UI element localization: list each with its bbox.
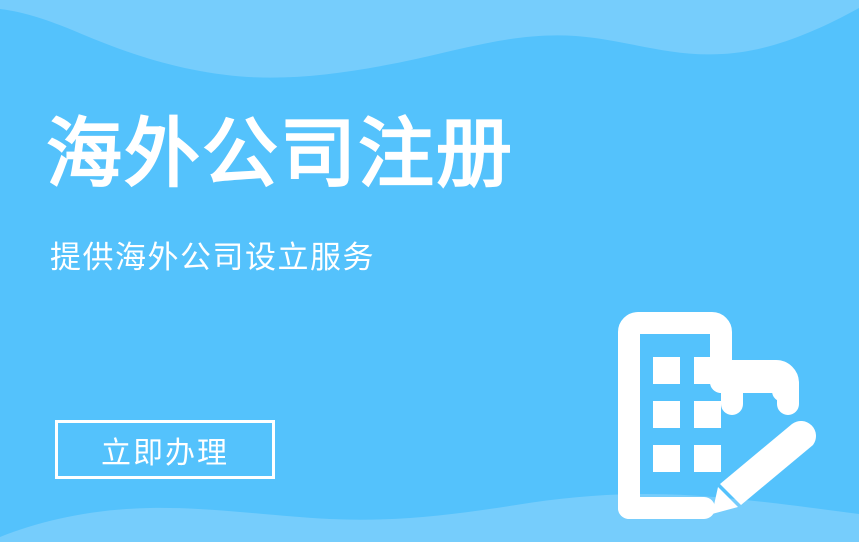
page-title: 海外公司注册 — [46, 113, 514, 195]
pencil-group — [712, 421, 816, 514]
window-r2c1 — [653, 401, 680, 428]
apply-now-button[interactable]: 立即办理 — [55, 420, 275, 479]
window-r2c2 — [694, 401, 721, 428]
window-r1c1 — [653, 357, 680, 384]
pencil-body-path — [720, 421, 816, 505]
window-r3c2 — [694, 445, 721, 472]
overseas-company-registration-banner: 海外公司注册 提供海外公司设立服务 立即办理 — [0, 0, 859, 542]
top-wave-shape — [0, 0, 859, 78]
page-subtitle: 提供海外公司设立服务 — [50, 238, 375, 280]
window-r3c1 — [653, 445, 680, 472]
building-registration-edit-icon — [606, 300, 830, 522]
